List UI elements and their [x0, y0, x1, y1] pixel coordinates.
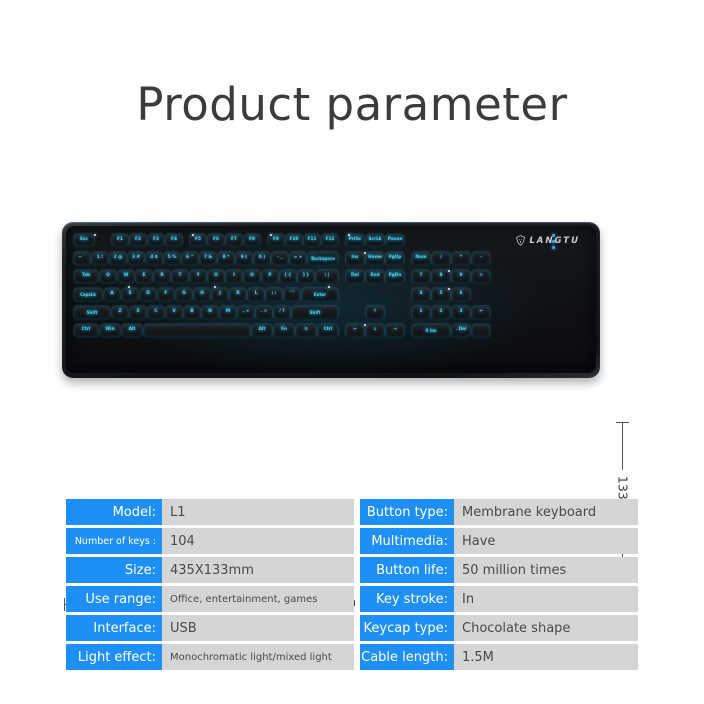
keycap: O	[244, 270, 260, 283]
spec-pair: Size:435X133mm	[66, 557, 354, 583]
spec-pair: Interface:USB	[66, 615, 354, 641]
spec-label: Use range:	[66, 586, 162, 612]
keycap: Z	[112, 306, 128, 319]
keycap: 9	[452, 270, 470, 283]
key-led-dot-icon	[328, 286, 330, 288]
spec-value: 1.5M	[454, 644, 638, 670]
keycap: 9 (	[236, 252, 252, 265]
spec-label: Size:	[66, 557, 162, 583]
spec-label: Model:	[66, 499, 162, 525]
table-row: Use range:Office, entertainment, gamesKe…	[66, 586, 638, 612]
brand-logo-text: LANGTU	[529, 236, 580, 246]
keycap	[472, 324, 490, 337]
keycap: F6	[208, 234, 224, 246]
keycap: S	[122, 288, 138, 301]
keycap: = +	[290, 252, 306, 265]
keycap: Num	[412, 252, 430, 265]
spec-pair: Multimedia:Have	[360, 528, 638, 554]
keycap: F1	[112, 234, 128, 246]
keycap: 5 %	[164, 252, 180, 265]
spec-pair: Model:L1	[66, 499, 354, 525]
keycap: . Del	[452, 324, 470, 337]
keycap: I	[226, 270, 242, 283]
keycap: G	[176, 288, 192, 301]
keycap: . >	[256, 306, 272, 319]
keycap: Ins	[346, 252, 364, 265]
keycap: Y	[190, 270, 206, 283]
key-led-dot-icon	[364, 324, 366, 326]
keycap: J	[212, 288, 228, 301]
dimension-tick-top	[616, 422, 629, 423]
keycap: →	[386, 324, 404, 337]
keycap: W	[118, 270, 134, 283]
keycap: F	[158, 288, 174, 301]
keycap: ↵	[472, 306, 490, 319]
keycap: End	[366, 270, 384, 283]
keycap: A	[104, 288, 120, 301]
keycap: Q	[100, 270, 116, 283]
keycap: 3 #	[128, 252, 144, 265]
keycap: F2	[130, 234, 146, 246]
spec-value: Chocolate shape	[454, 615, 638, 641]
keycap: 2 @	[110, 252, 126, 265]
spec-label: Multimedia:	[360, 528, 454, 554]
keycap: ≡	[296, 324, 316, 337]
keycap: 5	[432, 288, 450, 301]
keycap: N	[202, 306, 218, 319]
spec-pair: Button life:50 million times	[360, 557, 638, 583]
keycap: 6 ^	[182, 252, 198, 265]
keycap: ] }	[298, 270, 314, 283]
table-row: Number of keys :104Multimedia:Have	[66, 528, 638, 554]
spec-value: L1	[162, 499, 354, 525]
table-row: Interface:USBKeycap type:Chocolate shape	[66, 615, 638, 641]
wolf-head-icon	[515, 235, 526, 246]
key-led-dot-icon	[94, 234, 96, 236]
keycap: C	[148, 306, 164, 319]
key-led-dot-icon	[448, 270, 450, 272]
keycap: ↓	[366, 324, 384, 337]
keycap: ' "	[284, 288, 300, 301]
dimension-tick-left	[64, 598, 65, 611]
brand-logo: LANGTU	[515, 235, 580, 246]
keycap: / ?	[274, 306, 290, 319]
spec-label: Button type:	[360, 499, 454, 525]
keycap: *	[452, 252, 470, 265]
keycap: CapsLk	[74, 288, 102, 301]
keycap: +	[472, 270, 490, 283]
keycap: F8	[244, 234, 260, 246]
keycap: ScrLk	[366, 234, 384, 246]
page-title: Product parameter	[0, 78, 704, 131]
spec-label: Cable length:	[360, 644, 454, 670]
keycap: Alt	[122, 324, 142, 337]
keycap	[144, 324, 250, 337]
keycap: F4	[166, 234, 182, 246]
keycap: 3	[452, 306, 470, 319]
spec-label: Keycap type:	[360, 615, 454, 641]
keycap: F10	[286, 234, 302, 246]
spec-value: In	[454, 586, 638, 612]
key-led-dot-icon	[192, 234, 194, 236]
keycap: F11	[304, 234, 320, 246]
spec-label: Light effect:	[66, 644, 162, 670]
keycap: 0 Ins	[412, 324, 450, 337]
keycap: [ {	[280, 270, 296, 283]
keycap: 8 *	[218, 252, 234, 265]
keycap: H	[194, 288, 210, 301]
keycap: ; :	[266, 288, 282, 301]
keycap: Ctrl	[318, 324, 338, 337]
spec-value: 104	[162, 528, 354, 554]
spec-pair: Cable length:1.5M	[360, 644, 638, 670]
spec-pair: Number of keys :104	[66, 528, 354, 554]
keycap: Fn	[274, 324, 294, 337]
keycap: \ |	[316, 270, 338, 283]
keycap: X	[130, 306, 146, 319]
table-row: Size:435X133mmButton life:50 million tim…	[66, 557, 638, 583]
key-led-dot-icon	[214, 286, 216, 288]
keycap: Enter	[302, 288, 338, 301]
keycap: F3	[148, 234, 164, 246]
keycap: 7 &	[200, 252, 216, 265]
keycap: E	[136, 270, 152, 283]
spec-pair: Button type:Membrane keyboard	[360, 499, 638, 525]
keycap: 0 )	[254, 252, 270, 265]
keycap: D	[140, 288, 156, 301]
keycap: F12	[322, 234, 338, 246]
spec-label: Interface:	[66, 615, 162, 641]
keycap: B	[184, 306, 200, 319]
scrolllock-led-icon	[552, 246, 555, 249]
keycap: Esc	[74, 234, 94, 246]
keycap: P	[262, 270, 278, 283]
spec-pair: Use range:Office, entertainment, games	[66, 586, 354, 612]
keycap: V	[166, 306, 182, 319]
keycap: Backspace	[308, 252, 338, 265]
keycap: ↑	[366, 306, 384, 319]
keycap: 7	[412, 270, 430, 283]
keycap: ←	[346, 324, 364, 337]
table-row: Model:L1Button type:Membrane keyboard	[66, 499, 638, 525]
keycap: ~ `	[74, 252, 90, 265]
product-image-area: EscF1F2F3F4F5F6F7F8F9F10F11F12PrtScScrLk…	[0, 200, 704, 430]
keycap: M	[220, 306, 236, 319]
spec-value: 50 million times	[454, 557, 638, 583]
keycap: 4	[412, 288, 430, 301]
keycap: F7	[226, 234, 242, 246]
table-row: Light effect:Monochromatic light/mixed l…	[66, 644, 638, 670]
keycap: R	[154, 270, 170, 283]
keycap: /	[432, 252, 450, 265]
spec-value: USB	[162, 615, 354, 641]
spec-pair: Keycap type:Chocolate shape	[360, 615, 638, 641]
keycap: U	[208, 270, 224, 283]
keycap: Home	[366, 252, 384, 265]
keycap: Alt	[252, 324, 272, 337]
key-led-dot-icon	[270, 234, 272, 236]
keycap: 1 !	[92, 252, 108, 265]
keycap: L	[248, 288, 264, 301]
keycap: Pause	[386, 234, 404, 246]
keycap: PgUp	[386, 252, 404, 265]
keycap: 2	[432, 306, 450, 319]
key-led-dot-icon	[448, 288, 450, 290]
keycap: -	[472, 252, 490, 265]
keycap: Shift	[292, 306, 338, 319]
keycap: K	[230, 288, 246, 301]
keycap: 4 $	[146, 252, 162, 265]
keycap: Shift	[74, 306, 110, 319]
specification-table: Model:L1Button type:Membrane keyboardNum…	[66, 499, 638, 670]
keycap: Win	[100, 324, 120, 337]
keycap: T	[172, 270, 188, 283]
keyboard-product-photo: EscF1F2F3F4F5F6F7F8F9F10F11F12PrtScScrLk…	[62, 222, 600, 378]
key-led-dot-icon	[128, 286, 130, 288]
keycap: 6	[452, 288, 470, 301]
spec-value: Office, entertainment, games	[162, 586, 354, 612]
key-led-dot-icon	[348, 234, 350, 236]
spec-value: 435X133mm	[162, 557, 354, 583]
keycap: 1	[412, 306, 430, 319]
spec-label: Button life:	[360, 557, 454, 583]
keycap: Tab	[74, 270, 98, 283]
keycap: Ctrl	[74, 324, 98, 337]
spec-value: Membrane keyboard	[454, 499, 638, 525]
keycap: 8	[432, 270, 450, 283]
keycap: - _	[272, 252, 288, 265]
spec-label: Number of keys :	[66, 528, 162, 554]
spec-value: Monochromatic light/mixed light	[162, 644, 354, 670]
spec-value: Have	[454, 528, 638, 554]
spec-pair: Key stroke:In	[360, 586, 638, 612]
spec-label: Key stroke:	[360, 586, 454, 612]
spec-pair: Light effect:Monochromatic light/mixed l…	[66, 644, 354, 670]
key-led-dot-icon	[364, 252, 366, 254]
keycap: , <	[238, 306, 254, 319]
keyboard-deck: EscF1F2F3F4F5F6F7F8F9F10F11F12PrtScScrLk…	[66, 226, 596, 373]
keycap: PgDn	[386, 270, 404, 283]
keycap: Del	[346, 270, 364, 283]
